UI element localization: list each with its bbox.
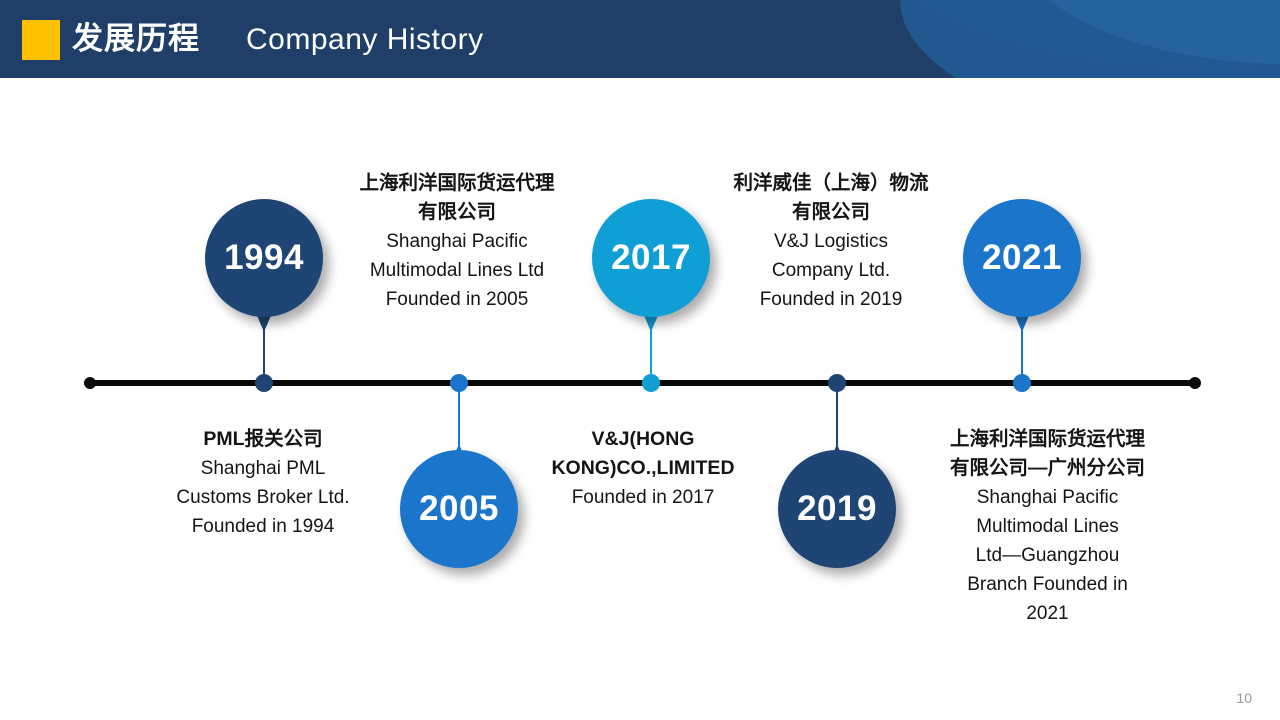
timeline-year-2005: 2005 — [400, 490, 518, 528]
description-cn-line: 有限公司 — [332, 198, 582, 227]
page-number: 10 — [1236, 690, 1252, 706]
description-en-line: Shanghai Pacific — [920, 483, 1175, 512]
description-en-line: Branch Founded in — [920, 570, 1175, 599]
connector-2019 — [836, 384, 838, 446]
description-en-line: Founded in 1994 — [138, 512, 388, 541]
description-cn-line: 上海利洋国际货运代理 — [332, 169, 582, 198]
description-cn-line: V&J(HONG — [518, 425, 768, 454]
description-en-line: Founded in 2017 — [518, 483, 768, 512]
timeline-node-dot-2017 — [642, 374, 660, 392]
description-en-line: 2021 — [920, 599, 1175, 628]
description-en-line: Founded in 2005 — [332, 285, 582, 314]
description-en-line: V&J Logistics — [706, 227, 956, 256]
page-title-chinese: 发展历程 — [72, 18, 200, 60]
description-cn-line: 有限公司—广州分公司 — [920, 454, 1175, 483]
timeline-year-2021: 2021 — [963, 239, 1081, 277]
description-cn-line: 上海利洋国际货运代理 — [920, 425, 1175, 454]
description-en-line: Founded in 2019 — [706, 285, 956, 314]
description-en-line: Shanghai Pacific — [332, 227, 582, 256]
description-block-2005: PML报关公司 Shanghai PML Customs Broker Ltd.… — [138, 425, 388, 541]
timeline-axis-end-dot — [1189, 377, 1201, 389]
page-title-english: Company History — [246, 19, 484, 61]
timeline-year-1994: 1994 — [205, 239, 323, 277]
timeline-node-dot-1994 — [255, 374, 273, 392]
timeline-year-2017: 2017 — [592, 239, 710, 277]
header-curve-decoration-1 — [860, 0, 1280, 68]
connector-2005 — [458, 384, 460, 446]
description-en-line: Customs Broker Ltd. — [138, 483, 388, 512]
description-cn-line: 有限公司 — [706, 198, 956, 227]
header-curve-decoration-3 — [1010, 0, 1280, 64]
timeline-node-dot-2021 — [1013, 374, 1031, 392]
description-en-line: Shanghai PML — [138, 454, 388, 483]
timeline-axis-start-dot — [84, 377, 96, 389]
accent-square-icon — [22, 20, 60, 60]
description-en-line: Multimodal Lines Ltd — [332, 256, 582, 285]
description-en-line: Ltd—Guangzhou — [920, 541, 1175, 570]
timeline-bubble-2017[interactable]: 2017 — [592, 199, 710, 317]
description-cn-line: PML报关公司 — [138, 425, 388, 454]
description-block-2017: 利洋威佳（上海）物流 有限公司 V&J Logistics Company Lt… — [706, 169, 956, 314]
description-block-1994: 上海利洋国际货运代理 有限公司 Shanghai Pacific Multimo… — [332, 169, 582, 314]
timeline-bubble-1994[interactable]: 1994 — [205, 199, 323, 317]
description-en-line: Multimodal Lines — [920, 512, 1175, 541]
description-block-2019: V&J(HONG KONG)CO.,LIMITED Founded in 201… — [518, 425, 768, 512]
header-curve-decoration-2 — [900, 0, 1280, 78]
description-en-line: Company Ltd. — [706, 256, 956, 285]
description-cn-line: 利洋威佳（上海）物流 — [706, 169, 956, 198]
timeline-year-2019: 2019 — [778, 490, 896, 528]
slide-header: 发展历程 Company History — [0, 0, 1280, 78]
timeline-bubble-2019[interactable]: 2019 — [778, 450, 896, 568]
timeline-node-dot-2005 — [450, 374, 468, 392]
timeline-bubble-2005[interactable]: 2005 — [400, 450, 518, 568]
description-cn-line: KONG)CO.,LIMITED — [518, 454, 768, 483]
timeline-node-dot-2019 — [828, 374, 846, 392]
description-block-2021: 上海利洋国际货运代理 有限公司—广州分公司 Shanghai Pacific M… — [920, 425, 1175, 628]
timeline-bubble-2021[interactable]: 2021 — [963, 199, 1081, 317]
